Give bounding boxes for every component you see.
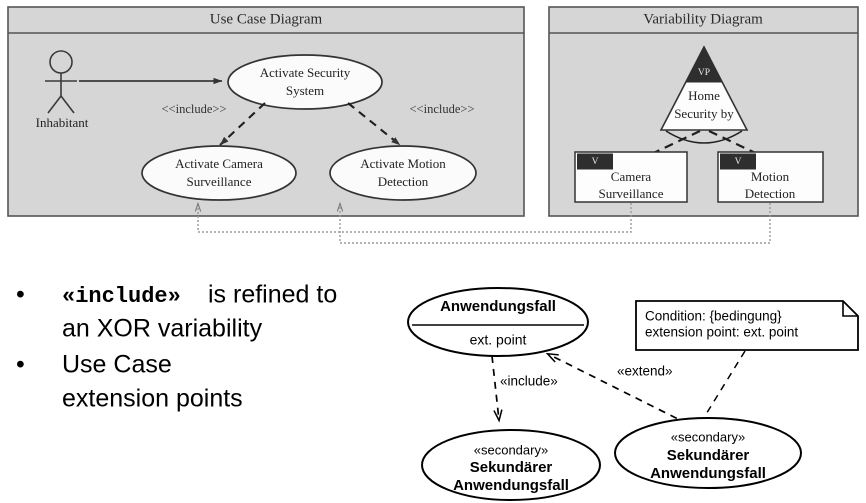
variant-label-line1: Motion (751, 169, 790, 184)
bullet-marker-0: • (16, 281, 25, 309)
note-line-2: extension point: ext. point (645, 325, 798, 340)
secondary-right-stereotype: «secondary» (671, 429, 745, 444)
vp-label-line1: Home (688, 88, 720, 103)
bullet-line2-0: an XOR variability (62, 315, 263, 343)
use-case-activate-motion-detection: Activate Motion Detection (330, 146, 476, 200)
secondary-right-line1: Sekundärer (667, 447, 750, 464)
bullet-marker-1: • (16, 351, 25, 379)
bullet-rest-0: is refined to (208, 281, 337, 309)
anwendungsfall-ext-point: ext. point (470, 332, 527, 348)
use-case-label-line1: Activate Security (260, 65, 351, 80)
variant-tag-label: V (735, 157, 742, 167)
use-case-secondary-right: «secondary» Sekundärer Anwendungsfall (615, 418, 801, 488)
variability-diagram-title: Variability Diagram (643, 11, 763, 27)
use-case-diagram-title: Use Case Diagram (210, 11, 323, 27)
use-case-label-line2: Surveillance (187, 174, 252, 189)
extend-relation-label: «extend» (617, 364, 673, 379)
actor-label-inhabitant: Inhabitant (36, 115, 89, 130)
use-case-activate-security-system: Activate Security System (228, 55, 382, 109)
variant-label-line2: Surveillance (599, 186, 664, 201)
use-case-label-line2: Detection (378, 174, 429, 189)
use-case-activate-camera-surveillance: Activate Camera Surveillance (142, 146, 296, 200)
include-label-camera: <<include>> (162, 102, 227, 116)
slide-root: Use Case Diagram Inhabitant Activate Sec… (0, 0, 866, 503)
use-case-anwendungsfall: Anwendungsfall ext. point (408, 288, 588, 356)
bullet-mono-0: «include» (62, 284, 181, 309)
note-condition-extension-point: Condition: {bedingung} extension point: … (636, 301, 858, 350)
variant-tag-label: V (592, 157, 599, 167)
slide-canvas: Use Case Diagram Inhabitant Activate Sec… (0, 0, 866, 503)
include-relation-label: «include» (500, 374, 558, 389)
bullet-line2-1: extension points (62, 385, 243, 413)
include-label-motion: <<include>> (410, 102, 475, 116)
bullet-list: • «include» is refined to an XOR variabi… (16, 281, 337, 413)
vp-label-line2: Security by (674, 106, 734, 121)
use-case-label-line1: Activate Motion (360, 156, 446, 171)
use-case-label-line2: System (286, 83, 324, 98)
variant-motion-detection: V Motion Detection (718, 152, 823, 202)
secondary-right-line2: Anwendungsfall (650, 465, 766, 482)
note-line-1: Condition: {bedingung} (645, 309, 782, 324)
use-case-secondary-left: «secondary» Sekundärer Anwendungsfall (422, 430, 600, 500)
variant-camera-surveillance: V Camera Surveillance (575, 152, 687, 202)
note-anchor-line (700, 351, 745, 424)
vp-tag-label: VP (698, 68, 710, 78)
secondary-left-stereotype: «secondary» (474, 442, 548, 457)
secondary-left-line1: Sekundärer (470, 459, 553, 476)
secondary-left-line2: Anwendungsfall (453, 477, 569, 494)
variant-label-line1: Camera (611, 169, 652, 184)
include-relation-arrow (492, 356, 499, 420)
anwendungsfall-name: Anwendungsfall (440, 298, 556, 315)
use-case-label-line1: Activate Camera (175, 156, 263, 171)
variant-label-line2: Detection (745, 186, 796, 201)
bullet-rest-1: Use Case (62, 351, 172, 379)
